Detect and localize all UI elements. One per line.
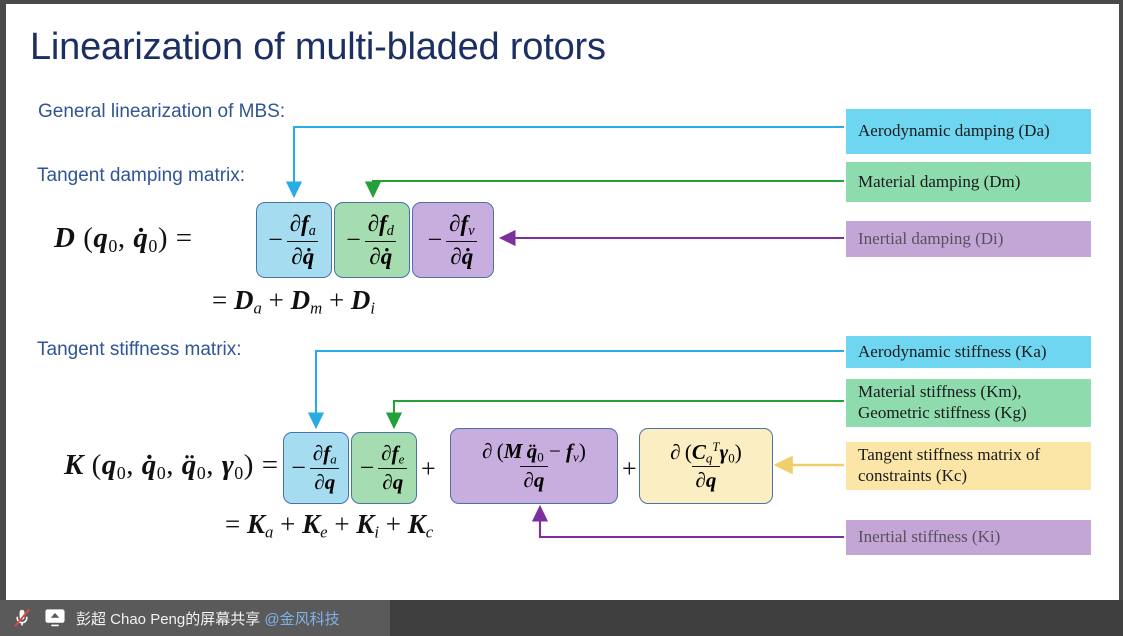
connector-arrow-layer	[6, 4, 1123, 600]
legend-aerodynamic-stiffness: Aerodynamic stiffness (Ka)	[846, 336, 1091, 368]
share-owner-label: 彭超 Chao Peng的屏幕共享	[76, 611, 264, 628]
stiffness-matrix-label: Tangent stiffness matrix:	[37, 339, 242, 361]
legend-material-stiffness: Material stiffness (Km), Geometric stiff…	[846, 379, 1091, 427]
damping-term-aero: − ∂fa ∂q̇	[256, 202, 332, 278]
damping-term-inertial: − ∂fv ∂q̇	[412, 202, 494, 278]
stiffness-term-material: − ∂fe ∂q	[351, 432, 417, 504]
legend-line: Aerodynamic damping (Da)	[858, 121, 1091, 142]
taskbar-background	[390, 600, 1123, 636]
page-title: Linearization of multi-bladed rotors	[30, 26, 606, 69]
share-status-text: 彭超 Chao Peng的屏幕共享 @金风科技	[76, 608, 340, 629]
arrow-stiffness-material	[394, 401, 844, 427]
legend-material-damping: Material damping (Dm)	[846, 162, 1091, 202]
damping-sum-line: = Da + Dm + Di	[212, 285, 375, 319]
share-handle: @金风科技	[264, 611, 339, 628]
legend-line: Aerodynamic stiffness (Ka)	[858, 342, 1091, 363]
legend-inertial-damping: Inertial damping (Di)	[846, 221, 1091, 257]
stiffness-term-constraint: ∂ (CqTγ0) ∂q	[639, 428, 773, 504]
legend-line: Geometric stiffness (Kg)	[858, 403, 1091, 424]
legend-line: Material damping (Dm)	[858, 172, 1091, 193]
stiffness-plus-2: +	[622, 454, 637, 484]
legend-line: Inertial stiffness (Ki)	[858, 527, 1091, 548]
legend-line: Inertial damping (Di)	[858, 229, 1091, 250]
arrow-stiffness-aero	[316, 351, 844, 427]
arrow-stiffness-inertial	[540, 507, 844, 537]
legend-line: Material stiffness (Km),	[858, 382, 1091, 403]
legend-inertial-stiffness: Inertial stiffness (Ki)	[846, 520, 1091, 555]
legend-constraint-stiffness: Tangent stiffness matrix of constraints …	[846, 442, 1091, 490]
damping-equation-lhs: D (q0, q̇0) =	[54, 222, 193, 257]
damping-term-material: − ∂fd ∂q̇	[334, 202, 410, 278]
stiffness-sum-line: = Ka + Ke + Ki + Kc	[225, 509, 433, 543]
arrow-damping-aero	[294, 127, 844, 196]
legend-line: constraints (Kc)	[858, 466, 1091, 487]
screen-share-icon[interactable]	[43, 607, 67, 629]
stiffness-term-inertial: ∂ (M q̈0 − fv) ∂q	[450, 428, 618, 504]
screen-share-bar: 彭超 Chao Peng的屏幕共享 @金风科技	[0, 600, 390, 636]
stiffness-equation-lhs: K (q0, q̇0, q̈0, γ0) =	[64, 449, 279, 484]
section-label: General linearization of MBS:	[38, 101, 285, 123]
microphone-muted-icon[interactable]	[10, 607, 34, 629]
stiffness-plus-1: +	[421, 454, 436, 484]
presentation-slide: Linearization of multi-bladed rotors Gen…	[0, 0, 1123, 600]
stiffness-term-aero: − ∂fa ∂q	[283, 432, 349, 504]
legend-aerodynamic-damping: Aerodynamic damping (Da)	[846, 109, 1091, 154]
arrow-damping-material	[373, 181, 844, 196]
legend-line: Tangent stiffness matrix of	[858, 445, 1091, 466]
damping-matrix-label: Tangent damping matrix:	[37, 165, 245, 187]
